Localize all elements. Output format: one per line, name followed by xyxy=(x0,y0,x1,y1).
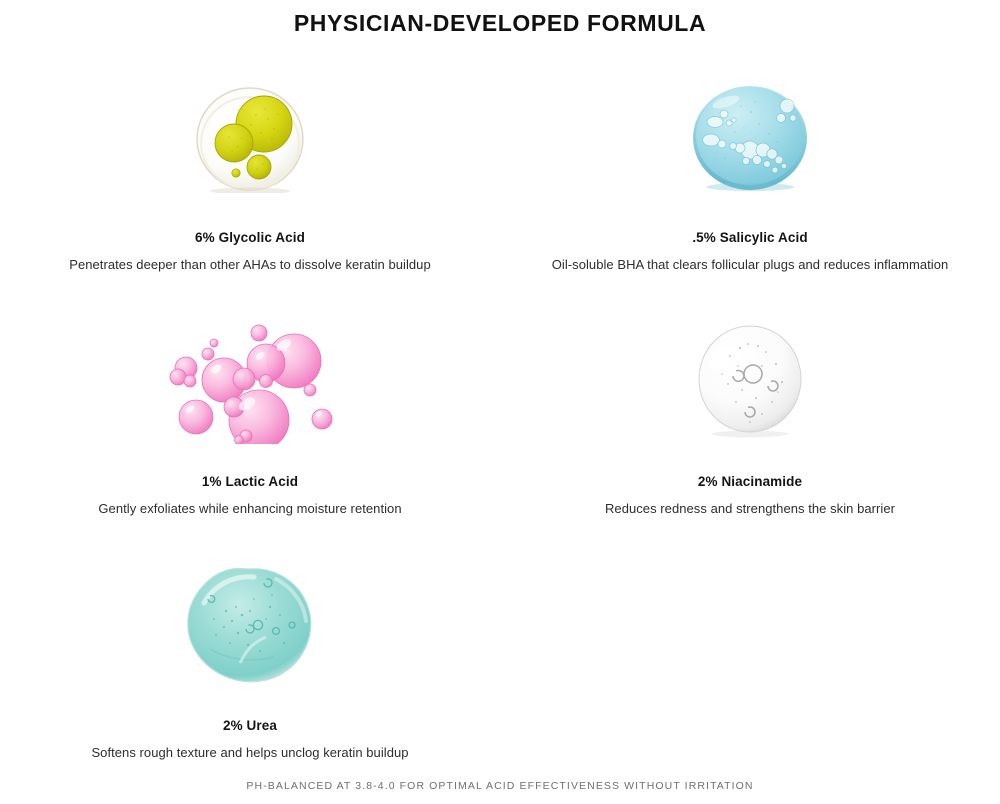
page-title: PHYSICIAN-DEVELOPED FORMULA xyxy=(0,10,1000,37)
ingredient-description: Softens rough texture and helps unclog k… xyxy=(91,745,408,760)
teal-gel-blob-icon xyxy=(180,563,320,687)
ingredient-row: 6% Glycolic Acid Penetrates deeper than … xyxy=(0,62,1000,272)
swatch-niacinamide xyxy=(630,306,870,456)
ph-balance-note: PH-BALANCED AT 3.8-4.0 FOR OPTIMAL ACID … xyxy=(0,780,1000,792)
clear-gel-sphere-icon xyxy=(692,322,808,440)
ingredient-description: Gently exfoliates while enhancing moistu… xyxy=(98,501,401,516)
ingredient-card-niacinamide[interactable]: 2% Niacinamide Reduces redness and stren… xyxy=(500,306,1000,516)
ingredient-name: 2% Urea xyxy=(223,718,277,733)
swatch-urea xyxy=(130,550,370,700)
yellow-oil-droplets-in-dish-icon xyxy=(188,81,312,193)
ingredient-name: 6% Glycolic Acid xyxy=(195,230,305,245)
ingredient-row: 1% Lactic Acid Gently exfoliates while e… xyxy=(0,306,1000,516)
ingredient-card-glycolic-acid[interactable]: 6% Glycolic Acid Penetrates deeper than … xyxy=(0,62,500,272)
ingredient-card-urea[interactable]: 2% Urea Softens rough texture and helps … xyxy=(0,550,500,760)
ingredient-name: 1% Lactic Acid xyxy=(202,474,298,489)
ingredient-description: Oil-soluble BHA that clears follicular p… xyxy=(552,257,949,272)
swatch-lactic-acid xyxy=(130,306,370,456)
blue-gel-disc-with-bubbles-icon xyxy=(689,82,811,192)
swatch-glycolic-acid xyxy=(130,62,370,212)
swatch-salicylic-acid xyxy=(630,62,870,212)
ingredient-grid: 6% Glycolic Acid Penetrates deeper than … xyxy=(0,62,1000,760)
formula-page: PHYSICIAN-DEVELOPED FORMULA xyxy=(0,0,1000,804)
ingredient-card-lactic-acid[interactable]: 1% Lactic Acid Gently exfoliates while e… xyxy=(0,306,500,516)
ingredient-description: Penetrates deeper than other AHAs to dis… xyxy=(69,257,431,272)
ingredient-row: 2% Urea Softens rough texture and helps … xyxy=(0,550,1000,760)
ingredient-description: Reduces redness and strengthens the skin… xyxy=(605,501,895,516)
pink-bubbles-cluster-icon xyxy=(162,319,338,444)
ingredient-card-salicylic-acid[interactable]: .5% Salicylic Acid Oil-soluble BHA that … xyxy=(500,62,1000,272)
ingredient-name: 2% Niacinamide xyxy=(698,474,802,489)
ingredient-name: .5% Salicylic Acid xyxy=(692,230,807,245)
